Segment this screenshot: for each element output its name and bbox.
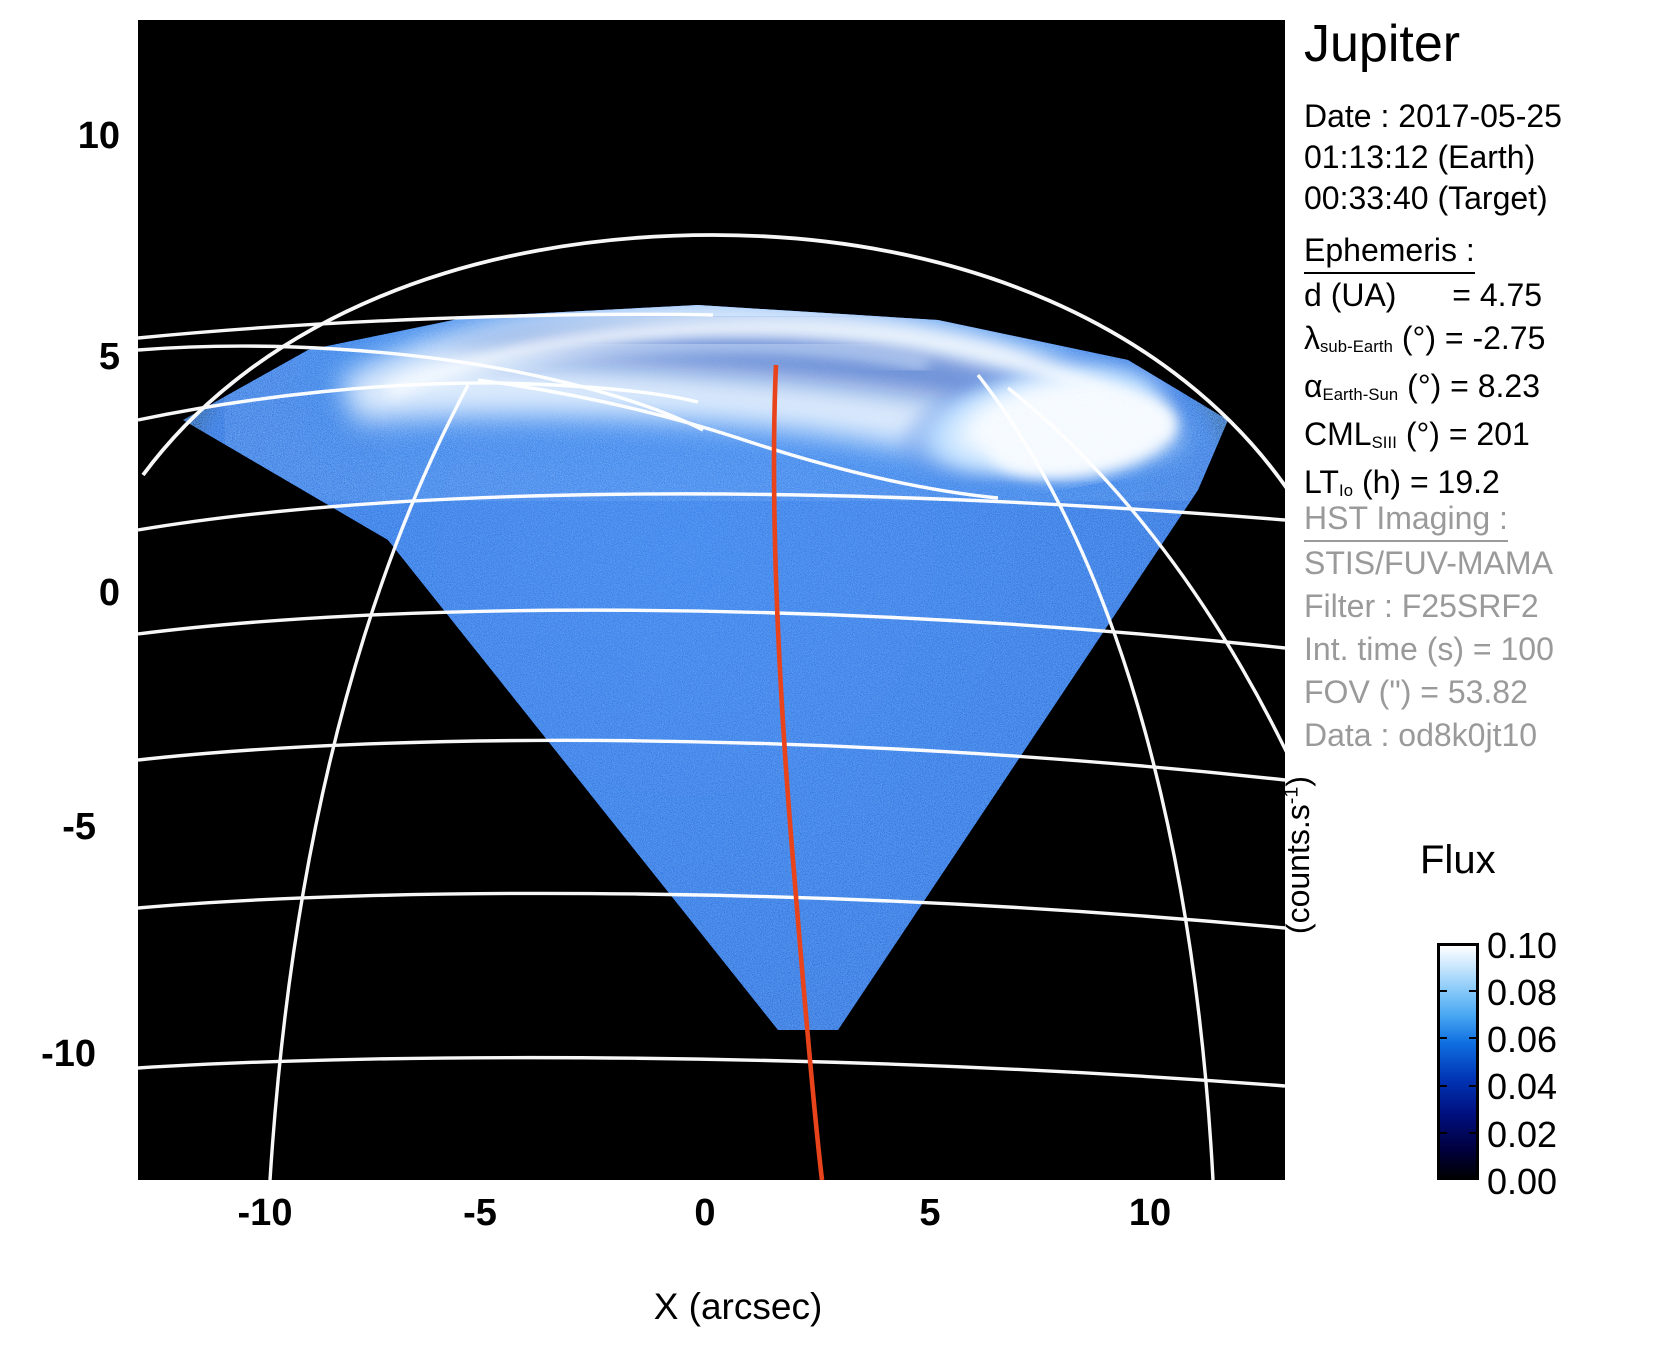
cb-tick-right-2 [1469,1037,1479,1039]
ephemeris-heading: Ephemeris : [1304,232,1475,274]
eph-unit-lt: (h) [1362,464,1401,500]
flux-colorbar [1437,943,1479,1180]
x-tick-label-minus5: -5 [420,1192,540,1235]
cb-tick-right-1 [1469,990,1479,992]
ephemeris-row-distance: d (UA) = 4.75 [1304,274,1545,317]
observation-date-block: Date : 2017-05-25 01:13:12 (Earth) 00:33… [1304,96,1562,219]
cb-tick-right-3 [1469,1085,1479,1087]
x-axis-label: X (arcsec) [438,1286,1038,1328]
eph-label-alpha: α [1304,368,1323,404]
y-tick-label-5: 5 [10,336,120,379]
eph-label-cml: CML [1304,416,1372,452]
colorbar-title: Flux [1420,838,1496,883]
y-tick-label-minus5: -5 [0,806,96,849]
colorbar-unit-exponent: -1 [1280,787,1302,805]
y-tick-label-0: 0 [10,572,120,615]
hst-integration-time: Int. time (s) = 100 [1304,628,1554,671]
eph-value-distance: = 4.75 [1452,277,1542,313]
cb-label-004: 0.04 [1487,1066,1557,1108]
ephemeris-row-cml: CMLSIII (°) = 201 [1304,413,1545,461]
eph-unit-cml: (°) [1406,416,1440,452]
cb-label-008: 0.08 [1487,972,1557,1014]
cb-tick-left-3 [1437,1085,1447,1087]
cb-tick-right-4 [1469,1132,1479,1134]
eph-value-lt: = 19.2 [1410,464,1500,500]
colorbar-unit-label: (counts.s-1) [1280,725,1317,985]
cb-tick-left-2 [1437,1037,1447,1039]
cb-label-010: 0.10 [1487,925,1557,967]
cb-label-006: 0.06 [1487,1019,1557,1061]
eph-value-alpha: = 8.23 [1450,368,1540,404]
eph-value-cml: = 201 [1449,416,1530,452]
cb-label-000: 0.00 [1487,1161,1557,1203]
eph-label-lambda: λ [1304,320,1320,356]
x-tick-label-10: 10 [1090,1192,1210,1235]
x-tick-label-5: 5 [870,1192,990,1235]
x-tick-label-minus10: -10 [205,1192,325,1235]
hst-instrument: STIS/FUV-MAMA [1304,542,1554,585]
aurora-image-plot [138,20,1285,1180]
eph-sub-siii: SIII [1372,433,1397,452]
eph-unit-lambda: (°) [1402,320,1436,356]
eph-value-lambda: = -2.75 [1445,320,1546,356]
colorbar-unit-text: (counts.s [1280,804,1316,934]
eph-label-distance: d (UA) [1304,277,1396,313]
y-tick-label-10: 10 [10,115,120,158]
ephemeris-row-phase-angle: αEarth-Sun (°) = 8.23 [1304,365,1545,413]
hst-imaging-heading: HST Imaging : [1304,500,1508,542]
cb-tick-left-4 [1437,1132,1447,1134]
eph-sub-io: Io [1339,481,1353,500]
observation-date: Date : 2017-05-25 [1304,96,1562,137]
y-tick-label-minus10: -10 [0,1033,96,1076]
observation-time-earth: 01:13:12 (Earth) [1304,137,1562,178]
hst-data-id: Data : od8k0jt10 [1304,714,1554,757]
eph-sub-sub-earth: sub-Earth [1320,337,1393,356]
hst-field-of-view: FOV (") = 53.82 [1304,671,1554,714]
cb-tick-left-1 [1437,990,1447,992]
cb-label-002: 0.02 [1487,1114,1557,1156]
eph-unit-alpha: (°) [1407,368,1441,404]
eph-sub-earth-sun: Earth-Sun [1323,385,1399,404]
hst-filter: Filter : F25SRF2 [1304,585,1554,628]
plot-canvas [138,20,1285,1180]
ephemeris-section: Ephemeris : d (UA) = 4.75 λsub-Earth (°)… [1304,232,1545,509]
x-tick-label-0: 0 [645,1192,765,1235]
eph-label-lt: LT [1304,464,1339,500]
hst-imaging-section: HST Imaging : STIS/FUV-MAMA Filter : F25… [1304,500,1554,757]
colorbar-unit-paren: ) [1280,776,1316,787]
observation-time-target: 00:33:40 (Target) [1304,178,1562,219]
ephemeris-row-sub-earth-latitude: λsub-Earth (°) = -2.75 [1304,317,1545,365]
target-title: Jupiter [1304,14,1460,74]
